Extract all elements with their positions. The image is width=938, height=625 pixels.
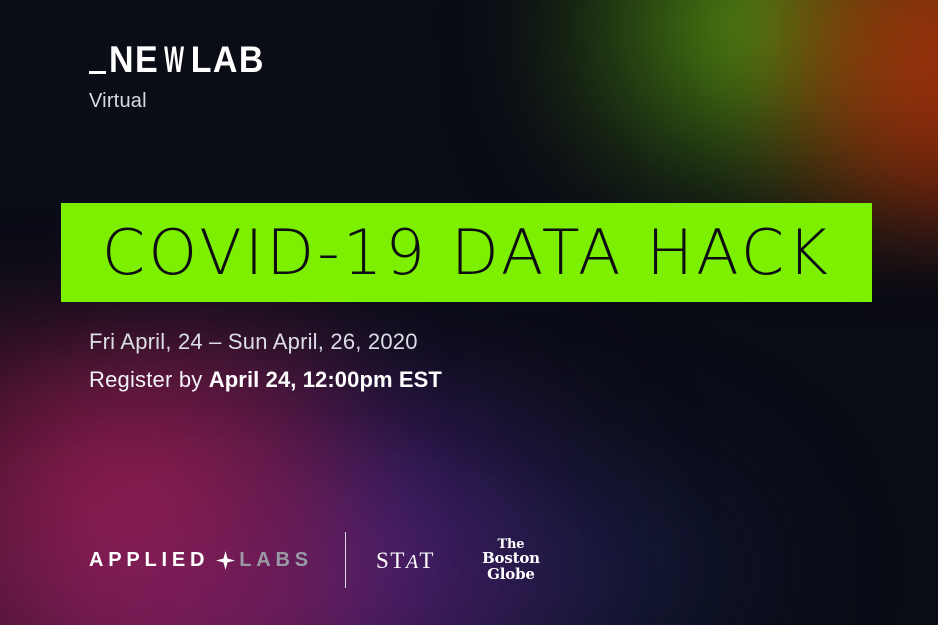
newlab-logo: NEWLAB <box>89 38 278 78</box>
stat-logo: STAT <box>376 549 435 572</box>
newlab-logo-w: W <box>165 41 186 78</box>
logo-divider <box>345 532 346 588</box>
applied-xlabs-labs: LABS <box>239 550 313 570</box>
applied-xlabs-applied: APPLIED <box>89 550 209 570</box>
poster-canvas: NEWLAB Virtual COVID-19 DATA HACK Fri Ap… <box>0 0 938 625</box>
brand-header: NEWLAB Virtual <box>89 38 278 113</box>
applied-xlabs-logo: APPLIED LABS <box>89 550 313 570</box>
underscore-icon <box>89 71 106 74</box>
x-sparkle-icon <box>216 551 235 570</box>
boston-globe-logo: The Boston Globe <box>482 538 540 582</box>
boston-globe-line-globe: Globe <box>482 567 540 582</box>
registration-deadline-value: April 24, 12:00pm EST <box>209 367 442 392</box>
registration-deadline: Register by April 24, 12:00pm EST <box>89 367 442 394</box>
event-date-range: Fri April, 24 – Sun April, 26, 2020 <box>89 329 442 356</box>
newlab-logo-part1: NE <box>109 39 159 80</box>
partner-logos: APPLIED LABS STAT The Boston Globe <box>89 531 540 589</box>
event-details: Fri April, 24 – Sun April, 26, 2020 Regi… <box>89 329 442 394</box>
page-title: COVID-19 DATA HACK <box>102 222 831 284</box>
newlab-logo-part2: LAB <box>191 39 265 80</box>
newlab-logo-text: NEWLAB <box>109 41 265 78</box>
stat-logo-a: A <box>406 551 419 573</box>
headline-banner: COVID-19 DATA HACK <box>61 203 872 302</box>
poster-content: NEWLAB Virtual COVID-19 DATA HACK Fri Ap… <box>0 0 938 625</box>
stat-logo-t: T <box>419 548 435 573</box>
event-format-label: Virtual <box>89 90 278 113</box>
stat-logo-st: ST <box>376 548 406 573</box>
registration-prefix: Register by <box>89 367 209 392</box>
